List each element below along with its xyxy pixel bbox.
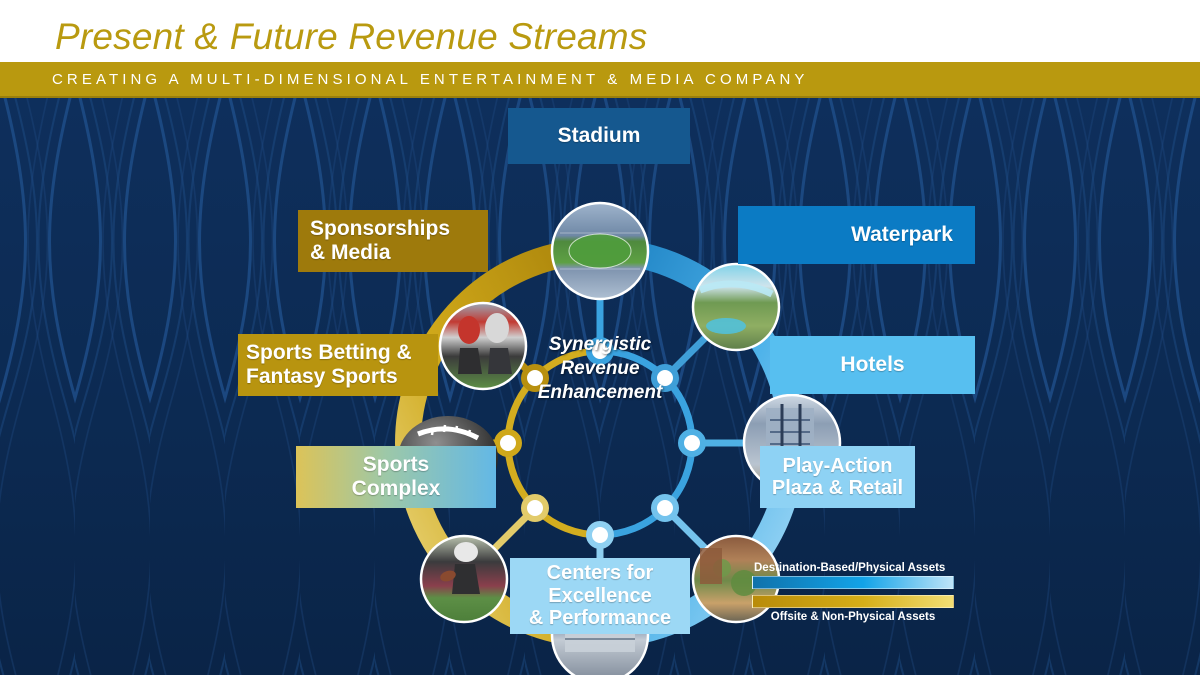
legend: Destination-Based/Physical Assets Offsit… [752,562,954,623]
page-subtitle: CREATING A MULTI-DIMENSIONAL ENTERTAINME… [52,71,808,88]
hub-node-sportscomplex [524,497,546,519]
label-sports-complex-line1: Sports [296,453,496,477]
label-centers-line2: Excellence [510,585,690,607]
slide-body: HOFL Stadium Waterpark Hotels [0,98,1200,675]
label-hotels-text: Hotels [770,353,975,377]
label-play-action-line2: Plaza & Retail [760,477,915,499]
hub-node-hotels [681,432,703,454]
hub-node-betting [497,432,519,454]
label-sports-betting[interactable]: Sports Betting & Fantasy Sports [238,334,438,396]
title-area: Present & Future Revenue Streams [0,0,1200,62]
hub-node-sponsorships [524,367,546,389]
legend-bar-destination [752,576,954,589]
page-title: Present & Future Revenue Streams [55,16,648,58]
hub-node-stadium [589,340,611,362]
label-waterpark-text: Waterpark [738,223,953,247]
label-stadium-text: Stadium [508,124,690,148]
hub-nodes [497,340,703,546]
label-play-action-plaza[interactable]: Play-Action Plaza & Retail [760,446,915,508]
label-sports-complex-line2: Complex [296,477,496,501]
label-sports-complex[interactable]: Sports Complex [296,446,496,508]
label-sponsorships-line2: & Media [310,241,488,265]
label-centers-line3: & Performance [510,607,690,629]
legend-bar-offsite [752,595,954,608]
football-practice-photo [440,303,526,389]
slide: Present & Future Revenue Streams CREATIN… [0,0,1200,675]
youth-football-player-photo [421,536,507,622]
hub-node-waterpark [654,367,676,389]
stadium-aerial-photo [552,203,648,299]
label-waterpark[interactable]: Waterpark [738,206,975,264]
label-sponsorships-line1: Sponsorships [310,217,488,241]
label-play-action-line1: Play-Action [760,455,915,477]
label-sports-betting-line2: Fantasy Sports [246,365,438,389]
waterpark-aerial-photo [693,264,779,350]
label-centers-for-excellence[interactable]: Centers for Excellence & Performance [510,558,690,634]
label-centers-line1: Centers for [510,562,690,584]
hub-node-centers [589,524,611,546]
label-stadium[interactable]: Stadium [508,108,690,164]
label-hotels[interactable]: Hotels [770,336,975,394]
label-sponsorships-media[interactable]: Sponsorships & Media [298,210,488,272]
label-sports-betting-line1: Sports Betting & [246,341,438,365]
subtitle-band: CREATING A MULTI-DIMENSIONAL ENTERTAINME… [0,62,1200,98]
legend-offsite-caption: Offsite & Non-Physical Assets [752,611,954,623]
hub-node-playaction [654,497,676,519]
legend-destination-caption: Destination-Based/Physical Assets [754,562,954,574]
